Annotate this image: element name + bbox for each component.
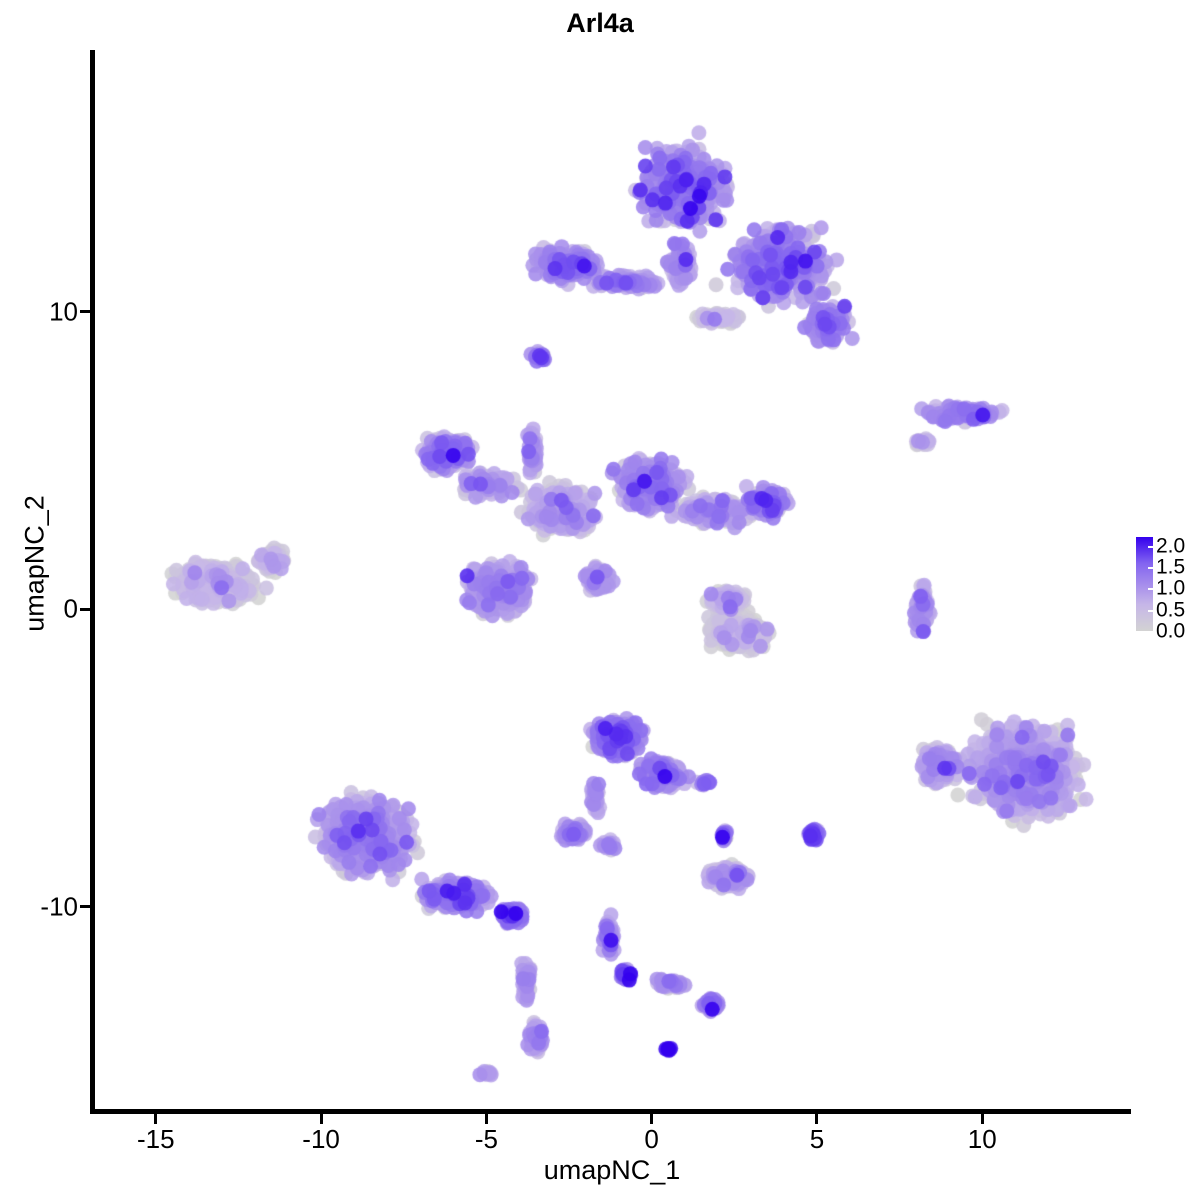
x-axis-label: umapNC_1 <box>93 1155 1131 1186</box>
x-tick-label: 10 <box>968 1124 997 1155</box>
scatter-plot-panel <box>93 50 1131 1112</box>
color-legend: 2.01.51.00.50.0 <box>1136 537 1200 637</box>
x-tick-mark <box>815 1114 818 1124</box>
x-axis-line <box>90 1109 1131 1114</box>
x-tick-mark <box>320 1114 323 1124</box>
y-tick-mark <box>80 310 90 313</box>
x-tick-mark <box>981 1114 984 1124</box>
x-tick-mark <box>154 1114 157 1124</box>
legend-tick-label: 0.0 <box>1156 621 1185 642</box>
x-tick-label: -10 <box>302 1124 340 1155</box>
y-tick-label: -10 <box>40 891 78 922</box>
legend-colorbar <box>1136 537 1153 631</box>
y-axis-label: umapNC_2 <box>20 354 51 774</box>
legend-tick-label: 2.0 <box>1156 535 1185 556</box>
legend-tick-label: 0.5 <box>1156 599 1185 620</box>
x-tick-label: -5 <box>475 1124 498 1155</box>
y-tick-mark <box>80 905 90 908</box>
legend-tick-label: 1.5 <box>1156 556 1185 577</box>
legend-tick-mark <box>1148 588 1154 590</box>
x-tick-label: 5 <box>810 1124 824 1155</box>
y-tick-label: 0 <box>64 594 78 625</box>
x-tick-mark <box>485 1114 488 1124</box>
umap-feature-plot: Arl4a -15-10-50510 100-10 umapNC_1 umapN… <box>0 0 1200 1200</box>
x-tick-label: -15 <box>137 1124 175 1155</box>
legend-tick-mark <box>1148 631 1154 633</box>
x-tick-mark <box>650 1114 653 1124</box>
legend-tick-label: 1.0 <box>1156 578 1185 599</box>
scatter-points-canvas <box>93 50 1131 1112</box>
page-title: Arl4a <box>0 8 1200 39</box>
legend-tick-mark <box>1148 567 1154 569</box>
y-axis-line <box>90 50 95 1114</box>
y-tick-mark <box>80 608 90 611</box>
y-tick-label: 10 <box>49 296 78 327</box>
legend-tick-mark <box>1148 610 1154 612</box>
x-tick-label: 0 <box>644 1124 658 1155</box>
legend-tick-mark <box>1148 546 1154 548</box>
